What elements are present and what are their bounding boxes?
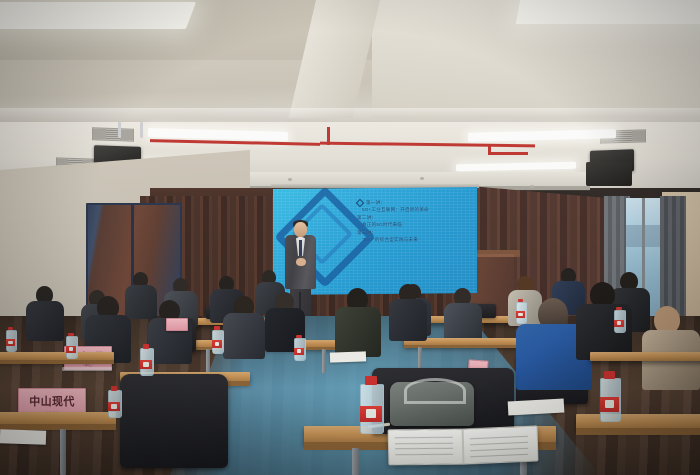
slide-line: 第二讲：	[357, 214, 469, 221]
desk-edge	[576, 428, 700, 435]
air-vent-icon	[92, 127, 134, 141]
chair	[120, 374, 228, 468]
backpack-strap	[404, 378, 466, 404]
presenter-tie	[299, 240, 302, 256]
paper-sheet	[508, 399, 565, 416]
slide-line: 第三讲：	[357, 229, 469, 236]
water-bottle-icon	[6, 330, 15, 350]
desk	[590, 352, 700, 361]
ceiling-light-panel-left	[0, 2, 196, 29]
ceiling-downlight-icon	[530, 185, 534, 188]
ceiling-light-panel-right	[516, 0, 700, 24]
water-bottle-icon	[516, 302, 525, 322]
open-book-icon	[388, 426, 539, 464]
water-bottle-icon	[360, 384, 382, 432]
water-bottle-icon	[600, 378, 619, 420]
person-torso	[335, 307, 381, 357]
water-bottle-icon	[212, 330, 222, 352]
slide-line: 真正的5G时代来临	[357, 221, 469, 228]
water-bottle-icon	[614, 310, 624, 331]
paper-sheet	[0, 429, 46, 445]
water-bottle-icon	[294, 338, 304, 359]
person-torso	[444, 303, 482, 343]
desk-leg	[60, 429, 66, 475]
table-name-card	[166, 318, 188, 331]
sprinkler-pipe-icon	[488, 152, 528, 155]
person-torso	[223, 313, 265, 359]
person-torso	[26, 301, 64, 341]
desk-leg	[352, 448, 359, 475]
conference-room-photo: 第一讲： 5G+工业互联网：开启新的革命 第二讲： 真正的5G时代来临 第三讲：…	[0, 0, 700, 475]
ceiling-downlight-icon	[420, 177, 424, 180]
person-torso	[125, 285, 157, 319]
water-bottle-icon	[108, 390, 120, 416]
wall-speaker-icon	[586, 162, 632, 186]
desk-leg	[322, 349, 326, 373]
slide-text-block: 第一讲： 5G+工业互联网：开启新的革命 第二讲： 真正的5G时代来临 第三讲：…	[357, 199, 469, 244]
presenter-head	[294, 222, 307, 237]
water-bottle-icon	[66, 336, 76, 357]
door-handle-icon[interactable]	[118, 122, 121, 138]
sprinkler-drop-icon	[327, 127, 330, 145]
backpack-icon	[390, 382, 474, 426]
slide-line: 5G+工业互联网：开启新的革命	[357, 206, 469, 213]
paper-sheet	[330, 351, 366, 362]
desk-edge	[0, 360, 114, 364]
book-page-right	[463, 425, 539, 464]
slide-line: “5G+”的综合型实践与未来	[357, 236, 469, 243]
presenter-hands	[296, 258, 306, 266]
water-bottle-icon	[140, 348, 152, 374]
person-torso	[389, 299, 427, 341]
slide-line: 第一讲：	[357, 199, 469, 206]
ceiling-downlight-icon	[288, 178, 292, 181]
book-page-left	[388, 429, 464, 466]
door-handle-icon[interactable]	[140, 122, 143, 138]
name-card-stand	[62, 367, 112, 371]
